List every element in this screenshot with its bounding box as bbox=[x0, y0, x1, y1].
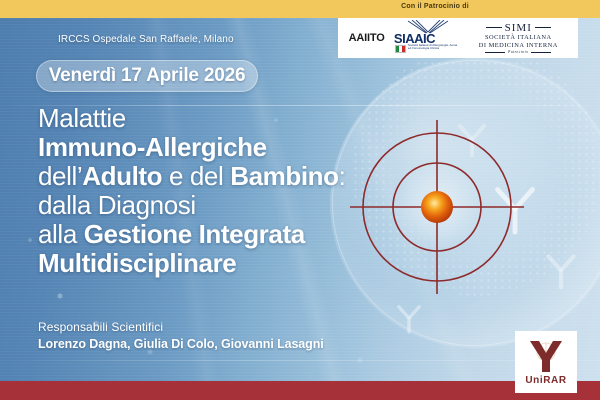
conference-poster: Con il Patrocinio di AAIITO SIAAIC Socie… bbox=[0, 0, 600, 400]
siaaic-prefix: SI bbox=[394, 31, 405, 46]
title-line-3: dell’Adulto e del Bambino: bbox=[38, 162, 418, 191]
simi-wordmark: SIMI bbox=[505, 22, 532, 34]
title-line-5: alla Gestione Integrata bbox=[38, 220, 418, 249]
logo-unirar: UniRAR bbox=[515, 331, 577, 393]
patrocinio-label: Con il Patrocinio di bbox=[0, 3, 600, 10]
simi-footer-row: Patrocinio bbox=[469, 50, 567, 54]
title-segment: dell’ bbox=[38, 161, 82, 191]
bottom-accent-bar bbox=[0, 381, 600, 400]
title-segment: Gestione Integrata bbox=[84, 219, 305, 249]
title-line-4: dalla Diagnosi bbox=[38, 191, 418, 220]
simi-footer-rule-right bbox=[531, 52, 551, 53]
simi-line-2: DI MEDICINA INTERNA bbox=[469, 42, 567, 50]
logo-simi: SIMI SOCIETÀ ITALIANA DI MEDICINA INTERN… bbox=[469, 22, 567, 54]
scientific-directors-label: Responsabili Scientifici bbox=[38, 320, 324, 334]
title-segment: : bbox=[339, 161, 346, 191]
simi-rule-right bbox=[535, 27, 551, 28]
divider-bottom bbox=[0, 360, 600, 361]
siaaic-subtitle: Società Italiana di Allergologia, Asma e… bbox=[408, 44, 460, 50]
title-line-1: Malattie bbox=[38, 104, 418, 133]
scientific-directors-names: Lorenzo Dagna, Giulia Di Colo, Giovanni … bbox=[38, 337, 324, 351]
unirar-y-mark-icon bbox=[526, 338, 566, 374]
date-badge: Venerdì 17 Aprile 2026 bbox=[36, 60, 258, 92]
simi-rule-left bbox=[486, 27, 502, 28]
title-line-2: Immuno-Allergiche bbox=[38, 133, 418, 162]
title-segment: Immuno-Allergiche bbox=[38, 132, 267, 162]
title-segment: Bambino bbox=[230, 161, 338, 191]
antibody-y-icon bbox=[540, 248, 582, 290]
poster-title: Malattie Immuno-Allergiche dell’Adulto e… bbox=[38, 104, 418, 278]
unirar-label: UniRAR bbox=[525, 375, 566, 386]
antibody-y-icon bbox=[392, 300, 426, 334]
sponsor-logo-panel: AAIITO SIAAIC Società Italiana di Allerg… bbox=[338, 18, 578, 58]
venue-label: IRCCS Ospedale San Raffaele, Milano bbox=[58, 34, 234, 45]
title-segment: Multidisciplinare bbox=[38, 248, 236, 278]
scientific-directors: Responsabili Scientifici Lorenzo Dagna, … bbox=[38, 320, 324, 351]
simi-line-1: SOCIETÀ ITALIANA bbox=[469, 34, 567, 42]
title-segment: Adulto bbox=[82, 161, 162, 191]
title-segment: e del bbox=[162, 161, 230, 191]
logo-aaiito: AAIITO bbox=[349, 32, 385, 44]
title-segment: dalla Diagnosi bbox=[38, 190, 196, 220]
simi-footer-text: Patrocinio bbox=[508, 50, 528, 54]
top-accent-bar: Con il Patrocinio di bbox=[0, 0, 600, 18]
simi-name-row: SIMI bbox=[469, 22, 567, 34]
title-segment: Malattie bbox=[38, 103, 126, 133]
simi-footer-rule-left bbox=[485, 52, 505, 53]
title-segment: alla bbox=[38, 219, 84, 249]
logo-siaaic: SIAAIC Società Italiana di Allergologia,… bbox=[394, 20, 460, 56]
date-text: Venerdì 17 Aprile 2026 bbox=[49, 65, 246, 87]
italian-flag-icon bbox=[395, 45, 406, 53]
title-line-6: Multidisciplinare bbox=[38, 249, 418, 278]
